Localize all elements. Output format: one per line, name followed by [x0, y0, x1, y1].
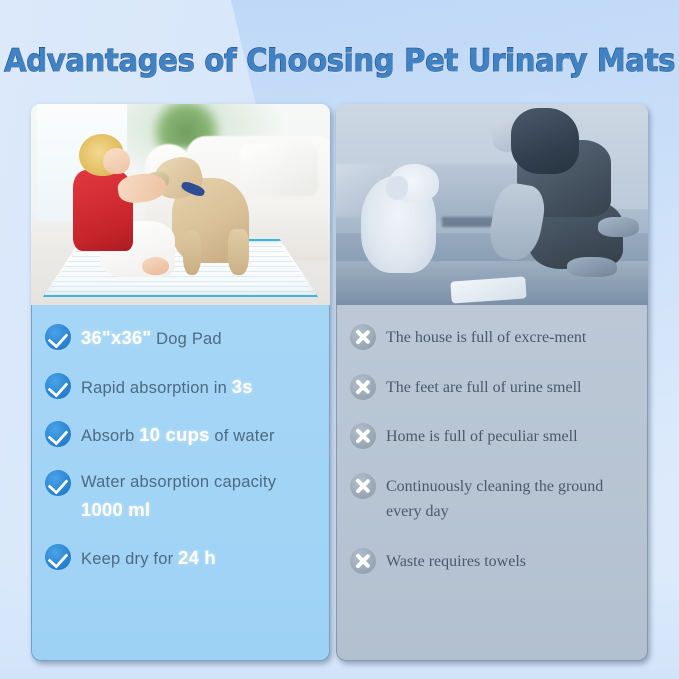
woman-cleaning-floor-with-dog-photo: [336, 104, 648, 305]
list-item: Waste requires towels: [350, 547, 635, 575]
advantage-highlight: 36"x36": [81, 327, 151, 348]
check-circle-icon: [45, 470, 71, 496]
list-item: Keep dry for 24 h: [45, 543, 317, 573]
woman-shoe-back: [598, 217, 639, 237]
advantage-suffix: of water: [210, 427, 275, 445]
problem-text: The feet are full of urine smell: [386, 373, 581, 401]
list-item: Rapid absorption in 3s: [45, 372, 317, 402]
dog-front-leg: [183, 231, 201, 275]
advantage-highlight: 10 cups: [139, 424, 209, 445]
check-circle-icon: [45, 421, 71, 447]
advantages-panel: 36"x36" Dog Pad Rapid absorption in 3s A…: [31, 305, 330, 661]
problem-text: Home is full of peculiar smell: [386, 422, 578, 450]
problem-text: The house is full of excre-ment: [386, 323, 586, 351]
dog-hind-leg: [228, 229, 249, 275]
check-circle-icon: [45, 324, 71, 350]
woman-shoe-front: [567, 257, 617, 277]
check-circle-icon: [45, 373, 71, 399]
page-title: Advantages of Choosing Pet Urinary Mats: [4, 43, 675, 79]
advantage-text: Water absorption capacity 1000 ml: [81, 469, 317, 524]
list-item: The house is full of excre-ment: [350, 323, 635, 351]
advantage-prefix: Rapid absorption in: [81, 379, 232, 397]
cushion: [240, 144, 318, 196]
woman-hair: [511, 108, 580, 174]
list-item: Continuously cleaning the ground every d…: [350, 472, 635, 525]
page-title-bar: Advantages of Choosing Pet Urinary Mats: [0, 34, 679, 88]
problem-text: Continuously cleaning the ground every d…: [386, 472, 635, 525]
comparison-board: 36"x36" Dog Pad Rapid absorption in 3s A…: [31, 104, 648, 661]
advantage-highlight: 3s: [232, 376, 253, 397]
problems-list: The house is full of excre-ment The feet…: [337, 305, 647, 607]
advantage-prefix: Absorb: [81, 427, 139, 445]
x-circle-icon: [350, 473, 376, 499]
list-item: 36"x36" Dog Pad: [45, 323, 317, 353]
check-circle-icon: [45, 544, 71, 570]
advantage-suffix: Dog Pad: [151, 330, 221, 348]
list-item: Absorb 10 cups of water: [45, 420, 317, 450]
advantages-column: 36"x36" Dog Pad Rapid absorption in 3s A…: [31, 104, 330, 661]
problems-panel: The house is full of excre-ment The feet…: [336, 305, 648, 661]
child-face: [103, 148, 130, 174]
list-item: Home is full of peculiar smell: [350, 422, 635, 450]
advantage-highlight: 1000 ml: [81, 499, 150, 520]
problem-text: Waste requires towels: [386, 547, 526, 575]
advantage-text: 36"x36" Dog Pad: [81, 323, 222, 353]
advantage-text: Keep dry for 24 h: [81, 543, 216, 573]
advantage-text: Absorb 10 cups of water: [81, 420, 275, 450]
list-item: The feet are full of urine smell: [350, 373, 635, 401]
advantage-prefix: Water absorption capacity: [81, 473, 276, 491]
x-circle-icon: [350, 324, 376, 350]
advantages-list: 36"x36" Dog Pad Rapid absorption in 3s A…: [32, 305, 329, 602]
advantage-highlight: 24 h: [178, 547, 216, 568]
x-circle-icon: [350, 374, 376, 400]
advantage-prefix: Keep dry for: [81, 550, 178, 568]
child-with-dog-on-pee-pad-photo: [31, 104, 330, 305]
x-circle-icon: [350, 548, 376, 574]
problems-column: The house is full of excre-ment The feet…: [336, 104, 648, 661]
child-foot: [142, 257, 169, 275]
x-circle-icon: [350, 423, 376, 449]
list-item: Water absorption capacity 1000 ml: [45, 469, 317, 524]
advantage-text: Rapid absorption in 3s: [81, 372, 253, 402]
